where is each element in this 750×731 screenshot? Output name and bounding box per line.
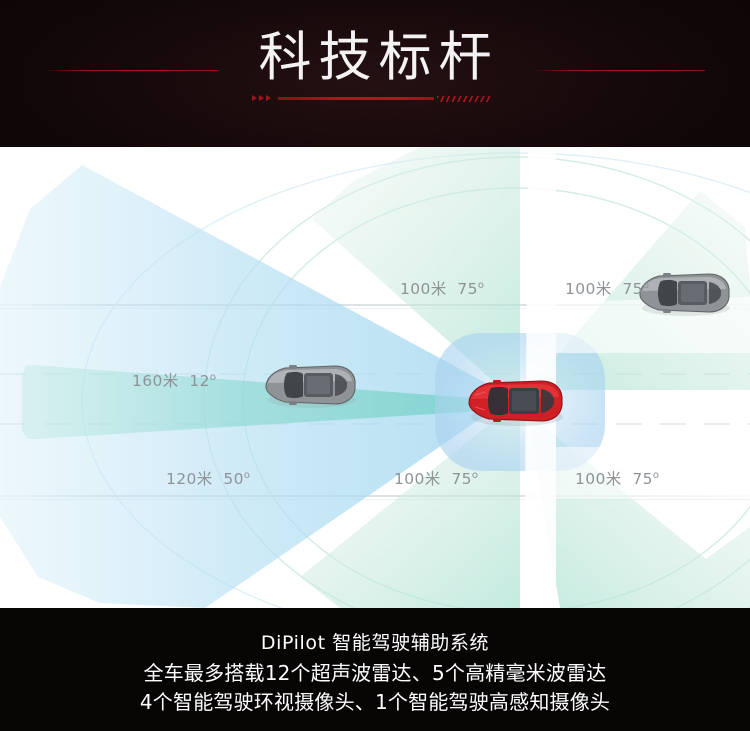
header-decoration [252, 93, 516, 105]
label-range: 160米 [132, 372, 179, 390]
footer-system-name: DiPilot 智能驾驶辅助系统 [0, 630, 750, 656]
label-range: 100米 [575, 470, 622, 488]
decoration-bar [278, 97, 434, 100]
degree-symbol: o [472, 470, 478, 481]
triangle-marker-icon [266, 95, 271, 101]
label-rear-right-corner-radar: 100米 75o [575, 467, 659, 488]
label-long-range-radar: 160米 12o [132, 369, 216, 390]
label-range: 100米 [400, 280, 447, 298]
triangle-marker-icon [259, 95, 264, 101]
footer-spec-line-2: 4个智能驾驶环视摄像头、1个智能驾驶高感知摄像头 [0, 688, 750, 716]
footer-spec-line-1: 全车最多搭载12个超声波雷达、5个高精毫米波雷达 [0, 659, 750, 687]
label-range: 100米 [394, 470, 441, 488]
label-range: 120米 [166, 470, 213, 488]
label-angle: 12 [189, 372, 210, 390]
header-band: 科技标杆 [0, 0, 750, 147]
ego-car-red [469, 380, 563, 426]
lane-highlight-overlay [524, 147, 556, 608]
degree-symbol: o [653, 470, 659, 481]
decoration-hatch-icon [437, 96, 491, 102]
sensor-coverage-svg [0, 147, 750, 608]
label-front-left-corner-radar: 100米 75o [400, 277, 484, 298]
degree-symbol: o [643, 280, 649, 291]
adas-sensor-coverage-diagram: 100米 75o 100米 75o 160米 12o 120米 50o 100米… [0, 147, 750, 608]
degree-symbol: o [210, 372, 216, 383]
gray-car-rear-right [640, 273, 730, 316]
label-range: 100米 [565, 280, 612, 298]
label-front-right-corner-radar: 100米 75o [565, 277, 649, 298]
degree-symbol: o [244, 470, 250, 481]
degree-symbol: o [478, 280, 484, 291]
triangle-marker-icon [252, 95, 257, 101]
label-rear-left-corner-radar: 100米 75o [394, 467, 478, 488]
footer-band: DiPilot 智能驾驶辅助系统 全车最多搭载12个超声波雷达、5个高精毫米波雷… [0, 608, 750, 731]
label-angle: 75 [457, 280, 478, 298]
page-root: 科技标杆 [0, 0, 750, 731]
label-angle: 75 [632, 470, 653, 488]
label-angle: 50 [223, 470, 244, 488]
page-title: 科技标杆 [0, 26, 750, 90]
label-angle: 75 [622, 280, 643, 298]
gray-car-front-left [266, 365, 356, 408]
label-angle: 75 [451, 470, 472, 488]
label-mid-range-radar: 120米 50o [166, 467, 250, 488]
